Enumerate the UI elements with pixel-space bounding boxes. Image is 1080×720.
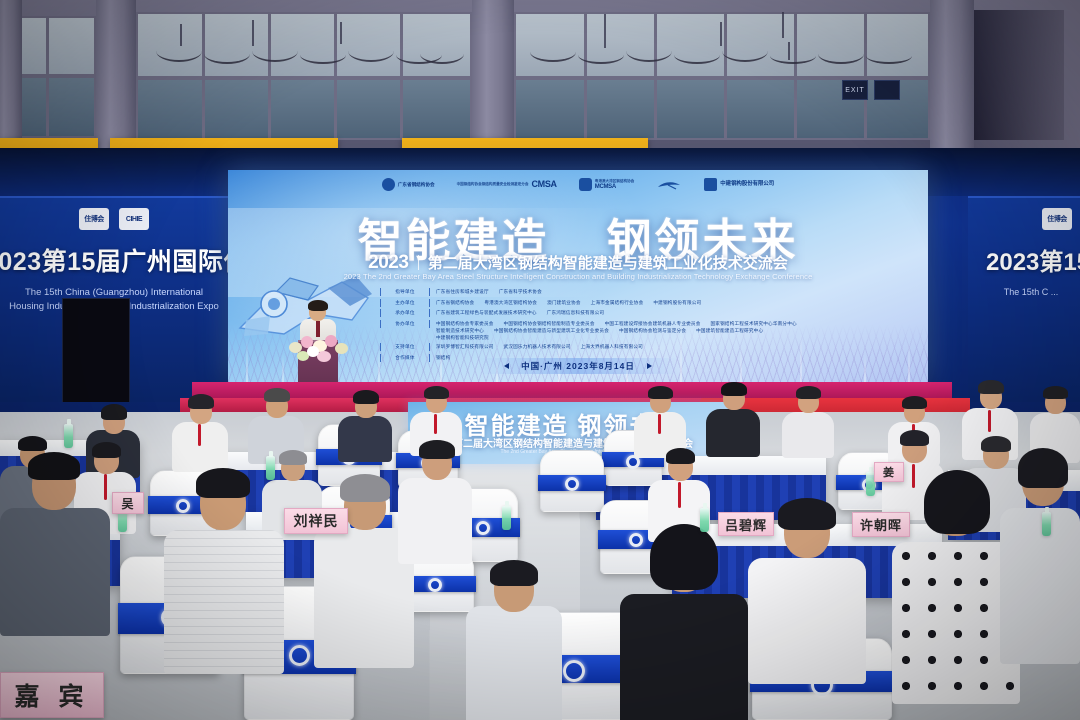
organizer-value: 澳门建筑业协会 xyxy=(547,300,581,305)
organizer-row: 指导单位 广东省住房和城乡建设厅广东省科学技术协会 xyxy=(380,288,810,296)
pillar-center xyxy=(472,0,514,150)
audience-member xyxy=(706,382,760,452)
pillar-left xyxy=(96,0,136,152)
organizer-values: 中国钢结构协会专家委员会中国钢结构协会钢结构智能制造专业委员会中国工程建设焊接协… xyxy=(436,320,810,341)
organizer-values: 广东省钢结构协会粤港澳大湾区钢结构协会澳门建筑业协会上海市金属结构行业协会中建钢… xyxy=(436,299,711,306)
organizer-value: 中国建筑智能建造工程研究中心 xyxy=(696,328,763,333)
organizer-value: 国家钢结构工程技术研究中心华南分中心 xyxy=(711,321,797,326)
guest-card: 嘉 宾 xyxy=(0,672,104,718)
screen-logo-strip: 广东省钢结构协会 中国钢结构协会钢结构质量安全检测鉴定分会 CMSA 粤港澳大湾… xyxy=(228,178,928,191)
cscec-logo-text: 中建钢构股份有限公司 xyxy=(720,181,774,187)
side-banner-left: 住博会 CIHIE 2023第15届广州国际住博会 The 15th China… xyxy=(0,196,228,402)
podium-flowers xyxy=(283,330,353,364)
right-arrow-icon xyxy=(647,363,652,369)
organizer-values: 广东省建筑工程绿色与装配式发展技术研究中心广东鸿瑞信息科技有限公司 xyxy=(436,309,614,316)
side-banner-right-sub-1: The 15th C ... xyxy=(982,285,1080,299)
audience-member xyxy=(398,440,472,560)
xu-zhaohui-card: 许朝晖 xyxy=(852,512,910,537)
organizer-value: 上海大界机器人科技有限公司 xyxy=(581,344,643,349)
organizer-value: 广东省科学技术协会 xyxy=(499,289,542,294)
speaker-hair xyxy=(308,300,328,311)
gdssa-mark-icon xyxy=(382,178,395,191)
audience-member-foreground xyxy=(1000,448,1080,658)
water-bottle xyxy=(502,506,511,530)
pillar-right xyxy=(930,0,974,150)
gdssa-logo: 广东省钢结构协会 xyxy=(382,178,435,191)
organizer-value: 上海市金属结构行业协会 xyxy=(591,300,644,305)
audience-member xyxy=(172,394,228,468)
organizer-row: 主办单位 广东省钢结构协会粤港澳大湾区钢结构协会澳门建筑业协会上海市金属结构行业… xyxy=(380,299,810,307)
organizer-value: 中国钢结构协会检测与鉴定分会 xyxy=(619,328,686,333)
exit-sign-a: EXIT xyxy=(842,80,868,100)
organizer-value: 中建钢构股份有限公司 xyxy=(653,300,701,305)
side-banner-right-logos: 住博会 xyxy=(968,198,1080,230)
mcmsa-logo-abbr: MCMSA xyxy=(595,185,635,190)
organizer-key: 承办单位 xyxy=(380,309,430,317)
cscec-mark-icon xyxy=(704,178,717,191)
swallow-mark-icon xyxy=(656,179,682,191)
water-bottle xyxy=(700,508,709,532)
liu-xiangmin-card: 刘祥民 xyxy=(284,508,348,534)
organizer-row: 协办单位 中国钢结构协会专家委员会中国钢结构协会钢结构智能制造专业委员会中国工程… xyxy=(380,320,810,341)
audience-member-foreground xyxy=(466,560,562,720)
organizer-value: 广东省钢结构协会 xyxy=(436,300,474,305)
swallow-logo xyxy=(656,179,682,191)
expo-logo: 住博会 xyxy=(1042,208,1072,230)
banner-occluder-box xyxy=(62,298,130,402)
partial-card-1: 吴 xyxy=(112,492,144,514)
organizer-key: 协办单位 xyxy=(380,320,430,328)
screen-date-text: 中国·广州 2023年8月14日 xyxy=(521,360,635,372)
mcmsa-mark-icon xyxy=(579,178,592,191)
audience-member xyxy=(782,386,834,454)
screen-subtitle-text: 第二届大湾区钢结构智能建造与建筑工业化技术交流会 xyxy=(428,255,788,272)
lv-bi-card: 吕碧辉 xyxy=(718,512,774,536)
organizer-value: 武汉固乐力机器人技术有限公司 xyxy=(504,344,571,349)
window-lower-left xyxy=(136,78,472,140)
organizer-value: 粤港澳大湾区钢结构协会 xyxy=(484,300,537,305)
audience-member-foreground xyxy=(620,524,748,720)
organizer-value: 智能制造技术研究中心 xyxy=(436,328,484,333)
side-banner-right-title: 2023第15届 xyxy=(986,242,1080,277)
pillar-far-left xyxy=(0,0,22,152)
organizer-value: 广东省建筑工程绿色与装配式发展技术研究中心 xyxy=(436,310,537,315)
water-bottle xyxy=(266,456,275,480)
date-pill: 中国·广州 2023年8月14日 xyxy=(478,358,678,374)
screen-subtitle-en: 2023 The 2nd Greater Bay Area Steel Stru… xyxy=(228,272,928,281)
organizer-value: 广东鸿瑞信息科技有限公司 xyxy=(547,310,605,315)
left-arrow-icon xyxy=(504,363,509,369)
audience-member xyxy=(338,390,392,458)
side-banner-left-title: 2023第15届广州国际住博会 xyxy=(0,242,228,278)
partial-card-2: 姜 xyxy=(874,462,904,482)
conference-photo-scene: ▲ EXIT 住博会 CIHIE 2023第15届广州国际住博会 The 15t… xyxy=(0,0,1080,720)
organizer-value: 中国钢结构协会钢结构智能制造专业委员会 xyxy=(504,321,595,326)
audience-member-foreground xyxy=(164,468,284,668)
cmsa-logo-abbr: CMSA xyxy=(531,182,556,187)
audience-member-foreground xyxy=(0,452,110,632)
organizer-value: 中国钢结构协会智能建造与新型建筑工业化专业委员会 xyxy=(494,328,609,333)
screen-organizer-block: 指导单位 广东省住房和城乡建设厅广东省科学技术协会 主办单位 广东省钢结构协会粤… xyxy=(380,288,810,365)
organizer-values: 广东省住房和城乡建设厅广东省科学技术协会 xyxy=(436,288,552,295)
gdssa-logo-text: 广东省钢结构协会 xyxy=(398,182,435,187)
audience-member xyxy=(634,386,686,454)
exit-sign-b xyxy=(874,80,900,100)
organizer-value: 中建钢构智能科技研究院 xyxy=(436,335,489,340)
expo-logo: 住博会 xyxy=(79,208,109,230)
organizer-row: 承办单位 广东省建筑工程绿色与装配式发展技术研究中心广东鸿瑞信息科技有限公司 xyxy=(380,309,810,317)
organizer-row: 支持单位 深圳罗博智汇科技有限公司武汉固乐力机器人技术有限公司上海大界机器人科技… xyxy=(380,343,810,351)
mcmsa-logo-cn: 粤港澳大湾区钢结构协会 xyxy=(595,179,635,184)
side-banner-left-logos: 住博会 CIHIE xyxy=(0,198,228,230)
screen-subtitle-cn: 2023 第二届大湾区钢结构智能建造与建筑工业化技术交流会 xyxy=(228,252,928,274)
water-bottle xyxy=(64,424,73,448)
cscec-steel-logo: 中建钢构股份有限公司 xyxy=(704,178,774,191)
cihie-logo: CIHIE xyxy=(119,208,149,230)
water-bottle xyxy=(1042,512,1051,536)
organizer-key: 主办单位 xyxy=(380,299,430,307)
organizer-value: 中国工程建设焊接协会建筑机器人专业委员会 xyxy=(605,321,701,326)
mcmsa-logo: 粤港澳大湾区钢结构协会 MCMSA xyxy=(579,178,635,191)
side-banner-right: 住博会 2023第15届 The 15th C ... xyxy=(968,196,1080,402)
cmsa-logo: 中国钢结构协会钢结构质量安全检测鉴定分会 CMSA xyxy=(457,182,557,187)
screen-year: 2023 xyxy=(368,252,408,273)
chair xyxy=(540,450,604,512)
organizer-key: 指导单位 xyxy=(380,288,430,296)
organizer-value: 深圳罗博智汇科技有限公司 xyxy=(436,344,494,349)
organizer-values: 深圳罗博智汇科技有限公司武汉固乐力机器人技术有限公司上海大界机器人科技有限公司 xyxy=(436,343,653,350)
cmsa-logo-cn: 中国钢结构协会钢结构质量安全检测鉴定分会 xyxy=(457,182,529,187)
organizer-value: 广东省住房和城乡建设厅 xyxy=(436,289,489,294)
organizer-value: 中国钢结构协会专家委员会 xyxy=(436,321,494,326)
organizer-key: 支持单位 xyxy=(380,343,430,351)
